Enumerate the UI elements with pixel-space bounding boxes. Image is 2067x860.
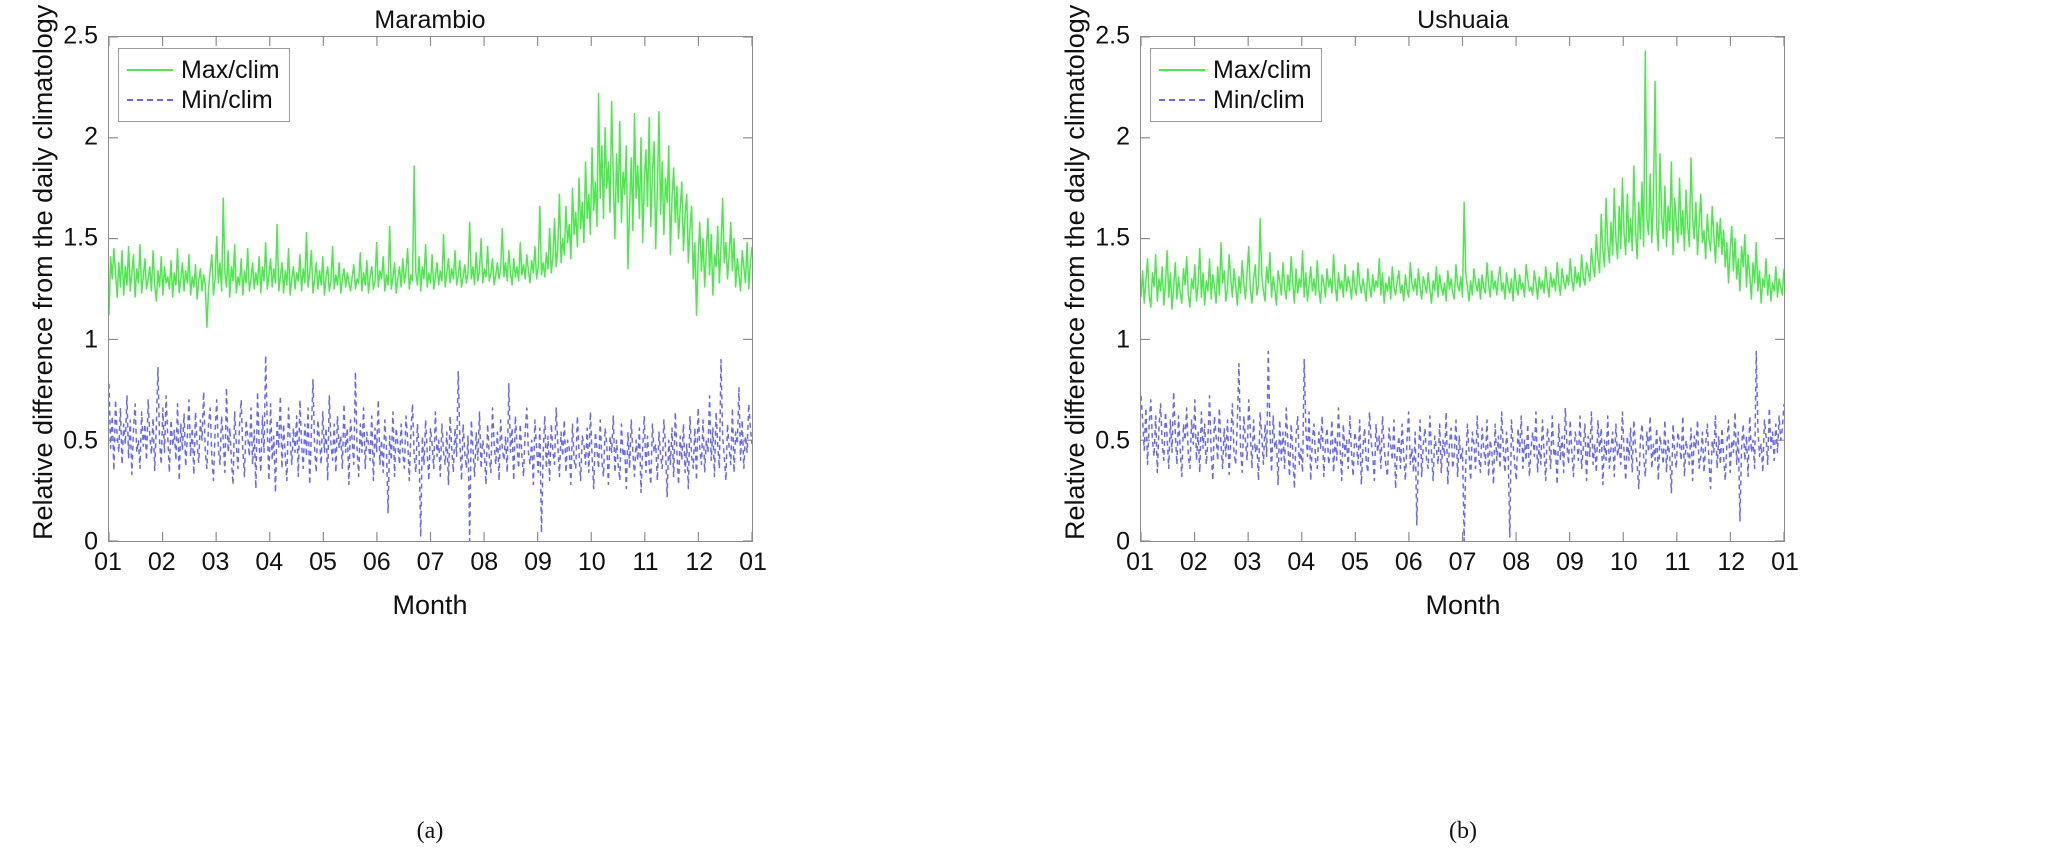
x-tick-label: 10 bbox=[1610, 548, 1638, 577]
x-tick-labels-marambio: 01020304050607080910111201 bbox=[108, 548, 753, 582]
legend-label-min: Min/clim bbox=[1213, 88, 1305, 113]
x-tick-label: 09 bbox=[524, 548, 552, 577]
x-tick-label: 03 bbox=[202, 548, 230, 577]
x-tick-label: 09 bbox=[1556, 548, 1584, 577]
x-tick-label: 10 bbox=[578, 548, 606, 577]
y-axis-title-marambio: Relative difference from the daily clima… bbox=[28, 5, 59, 540]
x-tick-label: 03 bbox=[1234, 548, 1262, 577]
x-tick-label: 02 bbox=[1180, 548, 1208, 577]
series-line-min-clim bbox=[1141, 351, 1784, 541]
x-axis-title-ushuaia: Month bbox=[1425, 590, 1500, 621]
x-tick-label: 01 bbox=[1126, 548, 1154, 577]
legend-marambio[interactable]: Max/clim Min/clim bbox=[118, 48, 290, 122]
y-axis-title-ushuaia: Relative difference from the daily clima… bbox=[1060, 5, 1091, 540]
x-tick-labels-ushuaia: 01020304050607080910111201 bbox=[1140, 548, 1785, 582]
x-tick-label: 07 bbox=[1449, 548, 1477, 577]
legend-swatch-max-icon bbox=[127, 69, 173, 71]
x-tick-label: 04 bbox=[255, 548, 283, 577]
x-axis-title-marambio: Month bbox=[392, 590, 467, 621]
legend-swatch-max-icon bbox=[1159, 69, 1205, 71]
legend-swatch-min-icon bbox=[127, 99, 173, 101]
x-tick-label: 11 bbox=[1665, 548, 1691, 577]
panel-ushuaia: Ushuaia 00.511.522.5 0102030405060708091… bbox=[1034, 0, 2067, 860]
legend-label-min: Min/clim bbox=[181, 88, 273, 113]
x-tick-label: 04 bbox=[1287, 548, 1315, 577]
legend-item-min[interactable]: Min/clim bbox=[1159, 85, 1311, 115]
x-tick-label: 01 bbox=[739, 548, 767, 577]
figure-container: Marambio 00.511.522.5 010203040506070809… bbox=[0, 0, 2067, 860]
legend-item-max[interactable]: Max/clim bbox=[127, 55, 279, 85]
panel-title-ushuaia: Ushuaia bbox=[1417, 6, 1509, 35]
legend-label-max: Max/clim bbox=[181, 58, 280, 83]
panel-title-marambio: Marambio bbox=[374, 6, 485, 35]
x-tick-label: 11 bbox=[633, 548, 659, 577]
x-tick-label: 02 bbox=[148, 548, 176, 577]
x-tick-label: 01 bbox=[94, 548, 122, 577]
x-tick-label: 08 bbox=[1502, 548, 1530, 577]
x-tick-label: 07 bbox=[417, 548, 445, 577]
x-tick-label: 01 bbox=[1771, 548, 1799, 577]
subfigure-caption-a: (a) bbox=[417, 818, 444, 845]
series-line-max-clim bbox=[109, 93, 752, 327]
x-tick-label: 06 bbox=[363, 548, 391, 577]
series-line-min-clim bbox=[109, 356, 752, 541]
subfigure-caption-b: (b) bbox=[1449, 818, 1477, 845]
x-tick-label: 05 bbox=[1341, 548, 1369, 577]
legend-item-max[interactable]: Max/clim bbox=[1159, 55, 1311, 85]
legend-swatch-min-icon bbox=[1159, 99, 1205, 101]
x-tick-label: 06 bbox=[1395, 548, 1423, 577]
legend-ushuaia[interactable]: Max/clim Min/clim bbox=[1150, 48, 1322, 122]
x-tick-label: 12 bbox=[685, 548, 713, 577]
x-tick-label: 12 bbox=[1717, 548, 1745, 577]
legend-label-max: Max/clim bbox=[1213, 58, 1312, 83]
legend-item-min[interactable]: Min/clim bbox=[127, 85, 279, 115]
x-tick-label: 05 bbox=[309, 548, 337, 577]
x-tick-label: 08 bbox=[470, 548, 498, 577]
panel-marambio: Marambio 00.511.522.5 010203040506070809… bbox=[0, 0, 1033, 860]
